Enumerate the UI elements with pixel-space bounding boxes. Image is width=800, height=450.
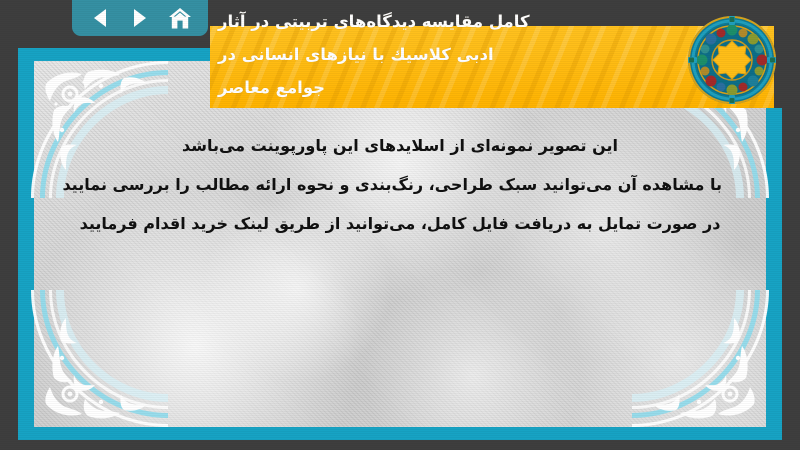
body-line-2: با مشاهده آن می‌توانید سبک طراحی، رنگ‌بن…: [78, 165, 722, 204]
body-line-1: این تصویر نمونه‌ای از اسلایدهای این پاور…: [78, 126, 722, 165]
title-line-1: کامل مقایسه دیدگاه‌های تربیتی در آثار: [218, 5, 530, 38]
home-button[interactable]: [164, 4, 196, 32]
slide-content-panel: [34, 61, 766, 427]
slide-body-text: این تصویر نمونه‌ای از اسلایدهای این پاور…: [78, 126, 722, 243]
triangle-right-icon: [130, 7, 150, 29]
title-line-3: جوامع معاصر: [218, 71, 325, 104]
slide-viewer: کامل مقایسه دیدگاه‌های تربیتی در آثار اد…: [0, 0, 800, 450]
title-line-2: ادبی کلاسیك با نیازهای انسانی در: [218, 38, 494, 71]
ornamental-medallion-icon: [686, 14, 778, 106]
body-line-3: در صورت تمایل به دریافت فایل کامل، می‌تو…: [78, 204, 722, 243]
home-icon: [168, 7, 192, 30]
triangle-left-icon: [90, 7, 110, 29]
back-button[interactable]: [84, 4, 116, 32]
forward-button[interactable]: [124, 4, 156, 32]
navigation-bar: [72, 0, 208, 36]
